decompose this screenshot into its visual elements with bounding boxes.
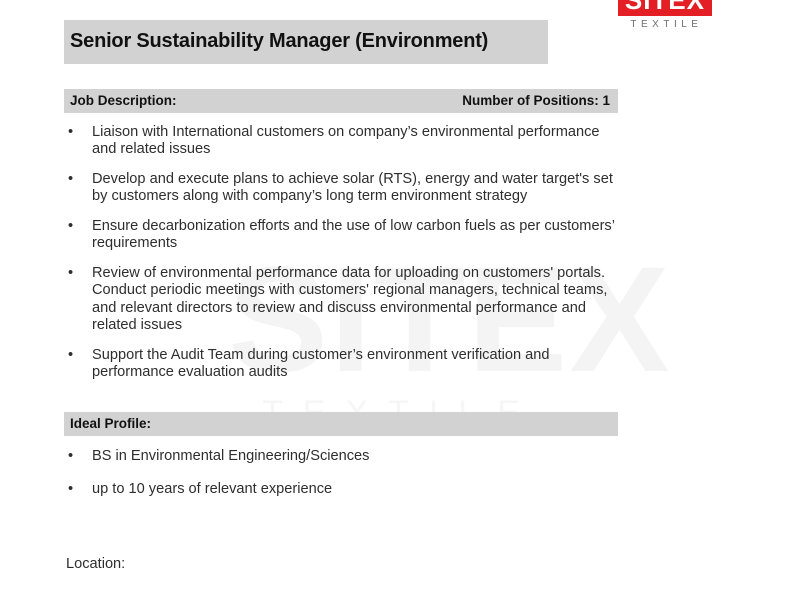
list-item: • Liaison with International customers o… xyxy=(64,124,624,158)
job-posting-page: SITEX TEXTILE SITEX TEXTILE Senior Susta… xyxy=(0,0,800,600)
list-item-text: Review of environmental performance data… xyxy=(92,265,624,333)
list-item: • up to 10 years of relevant experience xyxy=(64,481,624,498)
bullet-icon: • xyxy=(68,218,73,235)
list-item-text: Liaison with International customers on … xyxy=(92,124,624,158)
ideal-profile-heading: Ideal Profile: xyxy=(70,416,151,431)
list-item: • Ensure decarbonization efforts and the… xyxy=(64,218,624,252)
job-description-list: • Liaison with International customers o… xyxy=(64,124,624,381)
list-item: • Review of environmental performance da… xyxy=(64,265,624,333)
page-title: Senior Sustainability Manager (Environme… xyxy=(70,30,548,53)
ideal-profile-header-band: Ideal Profile: xyxy=(64,412,618,436)
location-label: Location: xyxy=(64,556,800,572)
company-logo: SITEX TEXTILE xyxy=(618,0,712,30)
list-item: • Develop and execute plans to achieve s… xyxy=(64,171,624,205)
document-content: Senior Sustainability Manager (Environme… xyxy=(0,20,800,572)
bullet-icon: • xyxy=(68,124,73,141)
list-item: • Support the Audit Team during customer… xyxy=(64,347,624,381)
list-item-text: BS in Environmental Engineering/Sciences xyxy=(92,448,624,465)
list-item-text: Develop and execute plans to achieve sol… xyxy=(92,171,624,205)
job-title-band: Senior Sustainability Manager (Environme… xyxy=(64,20,548,64)
list-item-text: up to 10 years of relevant experience xyxy=(92,481,624,498)
list-item-text: Support the Audit Team during customer’s… xyxy=(92,347,624,381)
bullet-icon: • xyxy=(68,347,73,364)
job-description-heading: Job Description: xyxy=(70,93,177,108)
bullet-icon: • xyxy=(68,481,73,498)
number-of-positions: Number of Positions: 1 xyxy=(462,93,610,108)
logo-wordmark: SITEX xyxy=(618,0,712,16)
job-description-header-band: Job Description: Number of Positions: 1 xyxy=(64,89,618,113)
logo-subtext: TEXTILE xyxy=(621,19,712,30)
ideal-profile-list: • BS in Environmental Engineering/Scienc… xyxy=(64,448,624,498)
bullet-icon: • xyxy=(68,171,73,188)
list-item-text: Ensure decarbonization efforts and the u… xyxy=(92,218,624,252)
bullet-icon: • xyxy=(68,265,73,282)
bullet-icon: • xyxy=(68,448,73,465)
list-item: • BS in Environmental Engineering/Scienc… xyxy=(64,448,624,465)
